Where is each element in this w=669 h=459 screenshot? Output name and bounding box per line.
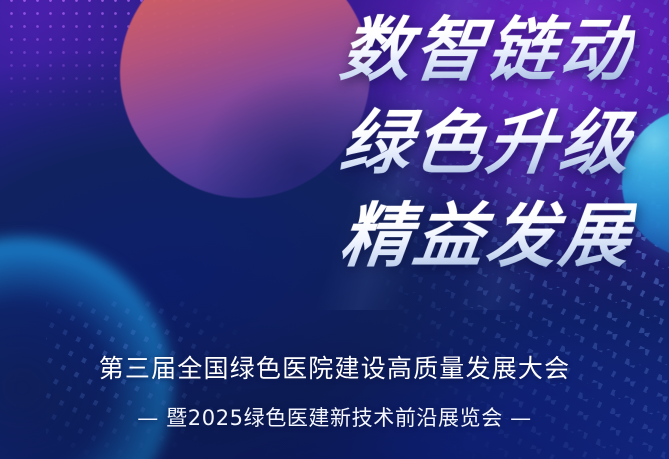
conference-poster: 数智链动 绿色升级 精益发展 第三届全国绿色医院建设高质量发展大会 — 暨202… (0, 0, 669, 459)
poster-headline: 数智链动 绿色升级 精益发展 (213, 2, 633, 284)
poster-content: 数智链动 绿色升级 精益发展 第三届全国绿色医院建设高质量发展大会 — 暨202… (0, 0, 669, 459)
poster-subtitle-block: 第三届全国绿色医院建设高质量发展大会 — 暨2025绿色医建新技术前沿展览会 — (0, 352, 669, 432)
headline-line-3: 精益发展 (207, 188, 639, 284)
headline-line-1: 数智链动 (207, 2, 639, 98)
exhibition-subtitle: — 暨2025绿色医建新技术前沿展览会 — (0, 404, 669, 432)
headline-line-2: 绿色升级 (207, 95, 639, 191)
conference-title: 第三届全国绿色医院建设高质量发展大会 (0, 352, 669, 386)
